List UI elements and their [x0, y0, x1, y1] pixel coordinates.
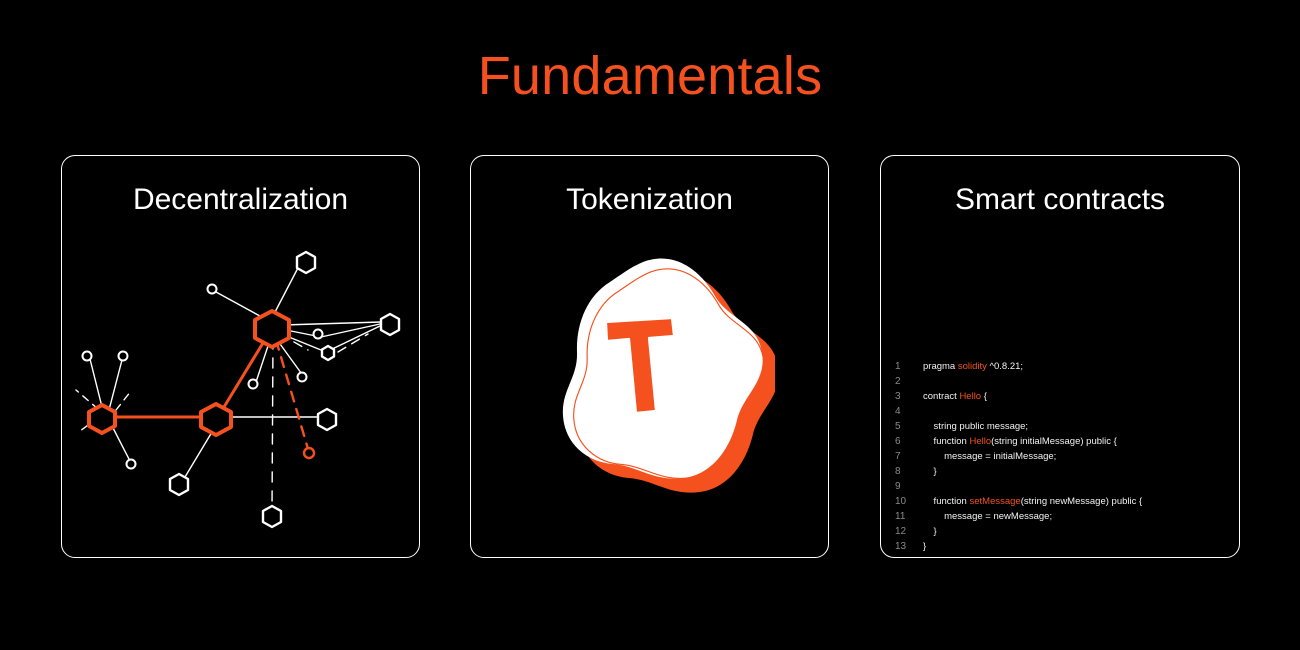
card-decentralization[interactable]: Decentralization	[61, 155, 420, 558]
code-plain: message = initialMessage;	[923, 451, 1056, 462]
code-line-text: contract Hello {	[923, 389, 987, 404]
code-line-text: pragma solidity ^0.8.21;	[923, 359, 1023, 374]
code-plain: ^0.8.21;	[987, 361, 1023, 372]
code-line-number: 3	[895, 389, 923, 404]
code-plain: string public message;	[923, 421, 1028, 432]
code-plain: }	[923, 466, 937, 477]
code-line-number: 10	[895, 494, 923, 509]
code-line: 11 message = newMessage;	[895, 509, 1240, 524]
code-keyword: solidity	[958, 361, 987, 372]
code-line-text: function setMessage(string newMessage) p…	[923, 494, 1142, 509]
code-line-text: }	[923, 464, 937, 479]
code-plain: }	[923, 541, 926, 552]
code-line-text: message = initialMessage;	[923, 449, 1056, 464]
code-plain: message = newMessage;	[923, 511, 1052, 522]
code-plain: (string initialMessage) public {	[991, 436, 1117, 447]
code-plain: function	[923, 436, 969, 447]
code-plain: pragma	[923, 361, 958, 372]
code-line-text: }	[923, 539, 926, 554]
card-body-tokenization	[471, 234, 828, 558]
code-plain: function	[923, 496, 969, 507]
code-keyword: setMessage	[969, 496, 1020, 507]
code-plain: {	[981, 391, 987, 402]
code-line: 2	[895, 374, 1240, 389]
code-plain: contract	[923, 391, 959, 402]
code-plain: }	[923, 526, 937, 537]
code-line: 10 function setMessage(string newMessage…	[895, 494, 1240, 509]
code-line-number: 1	[895, 359, 923, 374]
solidity-code-snippet: 1pragma solidity ^0.8.21;23contract Hell…	[895, 359, 1240, 554]
code-line: 5 string public message;	[895, 419, 1240, 434]
card-title-smart-contracts: Smart contracts	[881, 181, 1239, 219]
code-line: 12 }	[895, 524, 1240, 539]
code-line-number: 13	[895, 539, 923, 554]
card-tokenization[interactable]: Tokenization	[470, 155, 829, 558]
network-hub-left	[89, 405, 115, 433]
code-line-text: }	[923, 524, 937, 539]
code-line-text: string public message;	[923, 419, 1028, 434]
code-line: 3contract Hello {	[895, 389, 1240, 404]
card-body-smart-contracts: 1pragma solidity ^0.8.21;23contract Hell…	[881, 234, 1239, 558]
code-line-text: function Hello(string initialMessage) pu…	[923, 434, 1117, 449]
code-line-number: 6	[895, 434, 923, 449]
code-line-number: 4	[895, 404, 923, 419]
card-smart-contracts[interactable]: Smart contracts 1pragma solidity ^0.8.21…	[880, 155, 1240, 558]
code-line-number: 8	[895, 464, 923, 479]
code-line: 9	[895, 479, 1240, 494]
code-plain: (string newMessage) public {	[1021, 496, 1142, 507]
code-line: 13}	[895, 539, 1240, 554]
code-line: 4	[895, 404, 1240, 419]
card-body-decentralization	[62, 234, 419, 558]
code-line: 1pragma solidity ^0.8.21;	[895, 359, 1240, 374]
page-title: Fundamentals	[0, 45, 1300, 107]
code-line-number: 12	[895, 524, 923, 539]
code-keyword: Hello	[969, 436, 991, 447]
code-line-text: message = newMessage;	[923, 509, 1052, 524]
code-line-number: 2	[895, 374, 923, 389]
token-blob-icon	[525, 234, 775, 504]
card-title-decentralization: Decentralization	[62, 181, 419, 219]
card-title-tokenization: Tokenization	[471, 181, 828, 219]
code-line-number: 5	[895, 419, 923, 434]
code-line: 7 message = initialMessage;	[895, 449, 1240, 464]
code-keyword: Hello	[959, 391, 981, 402]
network-hub-top	[255, 311, 289, 347]
code-line: 8 }	[895, 464, 1240, 479]
code-line: 6 function Hello(string initialMessage) …	[895, 434, 1240, 449]
code-line-number: 11	[895, 509, 923, 524]
network-hub-center	[201, 404, 231, 435]
code-line-number: 9	[895, 479, 923, 494]
code-line-number: 7	[895, 449, 923, 464]
network-node-diagram	[68, 234, 413, 544]
network-endpoint-node	[304, 448, 314, 458]
